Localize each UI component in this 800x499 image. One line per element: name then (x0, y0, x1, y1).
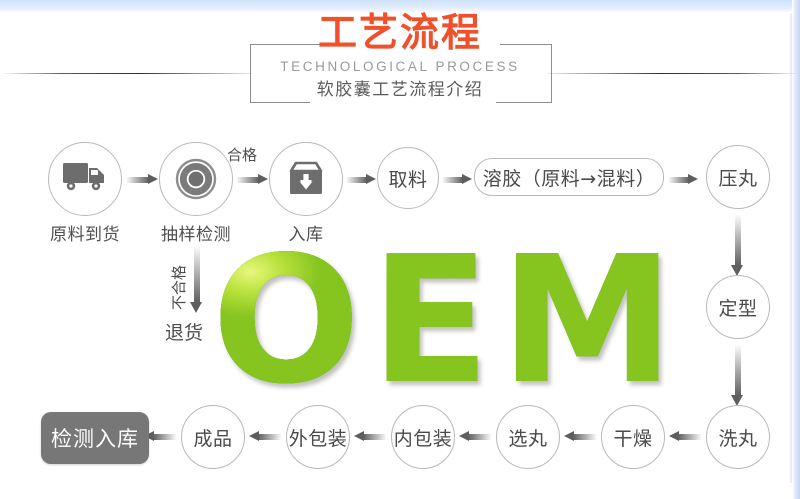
node-pellet-selection[interactable]: 选丸 (496, 405, 560, 469)
label-fail: 不合格 (168, 265, 189, 310)
node-finished-product-label: 成品 (193, 424, 232, 451)
delivery-truck-icon (62, 159, 108, 199)
node-pellet-pressing[interactable]: 压丸 (706, 145, 770, 209)
caption-raw-material-arrival: 原料到货 (33, 220, 137, 245)
node-drying[interactable]: 干燥 (601, 405, 665, 469)
node-drying-label: 干燥 (613, 424, 652, 451)
arrow-sampling-to-return (190, 245, 203, 313)
node-material-pickup-label: 取料 (388, 165, 427, 192)
node-warehouse-in[interactable] (269, 142, 343, 216)
node-sampling-inspection[interactable] (159, 142, 233, 216)
process-flow-infographic: 工艺流程 TECHNOLOGICAL PROCESS 软胶囊工艺流程介绍 OEM… (0, 0, 800, 499)
arrow-shaping-to-washing (731, 344, 744, 406)
page-subtitle-cn: 软胶囊工艺流程介绍 (0, 80, 800, 100)
label-pass: 合格 (227, 144, 257, 165)
node-shaping-label: 定型 (718, 294, 757, 321)
node-pellet-pressing-label: 压丸 (718, 164, 757, 191)
node-final-inspection-storage-label: 检测入库 (51, 423, 139, 453)
arrow-drying-to-selection (564, 431, 597, 442)
label-return-goods: 退货 (165, 318, 203, 345)
node-pellet-washing[interactable]: 洗丸 (706, 405, 770, 469)
arrow-arrival-to-sampling (126, 174, 158, 185)
node-inner-packaging-label: 内包装 (394, 424, 453, 451)
arrow-gel-to-pressing (668, 174, 698, 185)
node-gel-melting[interactable]: 溶胶（原料→混料） (474, 158, 664, 196)
node-outer-packaging-label: 外包装 (289, 424, 348, 451)
caption-warehouse-in: 入库 (254, 220, 358, 245)
inbox-download-icon (285, 160, 327, 198)
arrow-pressing-to-shaping (731, 214, 744, 276)
arrow-inner-to-outer-pack (354, 431, 387, 442)
header-frame-bottom-left (250, 102, 310, 103)
oem-watermark: OEM (188, 232, 708, 412)
node-shaping[interactable]: 定型 (706, 275, 770, 339)
node-pellet-selection-label: 选丸 (508, 424, 547, 451)
inspection-gear-icon (175, 158, 217, 200)
arrow-washing-to-drying (669, 431, 702, 442)
page-title: 工艺流程 (0, 14, 800, 54)
node-gel-melting-label: 溶胶（原料→混料） (483, 164, 655, 191)
header-frame-bottom-right (496, 102, 552, 103)
arrow-pickup-to-gel (442, 174, 472, 185)
node-raw-material-arrival[interactable] (48, 142, 122, 216)
node-inner-packaging[interactable]: 内包装 (391, 405, 455, 469)
page-subtitle-en: TECHNOLOGICAL PROCESS (0, 59, 800, 75)
node-pellet-washing-label: 洗丸 (718, 424, 757, 451)
arrow-sampling-to-warehouse (236, 174, 268, 185)
node-finished-product[interactable]: 成品 (181, 405, 245, 469)
node-final-inspection-storage[interactable]: 检测入库 (41, 412, 149, 464)
caption-sampling-inspection: 抽样检测 (144, 220, 248, 245)
arrow-outer-pack-to-finished (249, 431, 282, 442)
arrow-selection-to-inner-pack (459, 431, 492, 442)
node-material-pickup[interactable]: 取料 (377, 147, 439, 209)
arrow-warehouse-to-pickup (346, 174, 376, 185)
node-outer-packaging[interactable]: 外包装 (286, 405, 350, 469)
